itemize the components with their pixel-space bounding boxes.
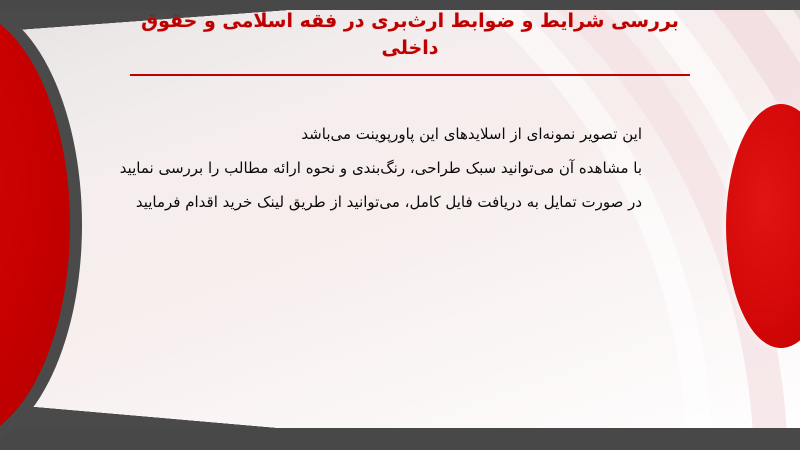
slide-title-text: بررسی شرایط و ضوابط ارث‌بری در فقه اسلام… [120,8,700,62]
body-line-2: با مشاهده آن می‌توانید سبک طراحی، رنگ‌بن… [122,152,642,186]
slide-frame-bottom-bar [0,428,800,450]
body-line-1: این تصویر نمونه‌ای از اسلایدهای این پاور… [122,118,642,152]
slide-title: بررسی شرایط و ضوابط ارث‌بری در فقه اسلام… [120,8,700,62]
body-line-3: در صورت تمایل به دریافت فایل کامل، می‌تو… [122,186,642,220]
bottom-left-bevel [0,402,300,428]
presentation-slide: بررسی شرایط و ضوابط ارث‌بری در فقه اسلام… [0,0,800,450]
slide-body: این تصویر نمونه‌ای از اسلایدهای این پاور… [122,118,642,219]
title-underline-rule [130,74,690,76]
